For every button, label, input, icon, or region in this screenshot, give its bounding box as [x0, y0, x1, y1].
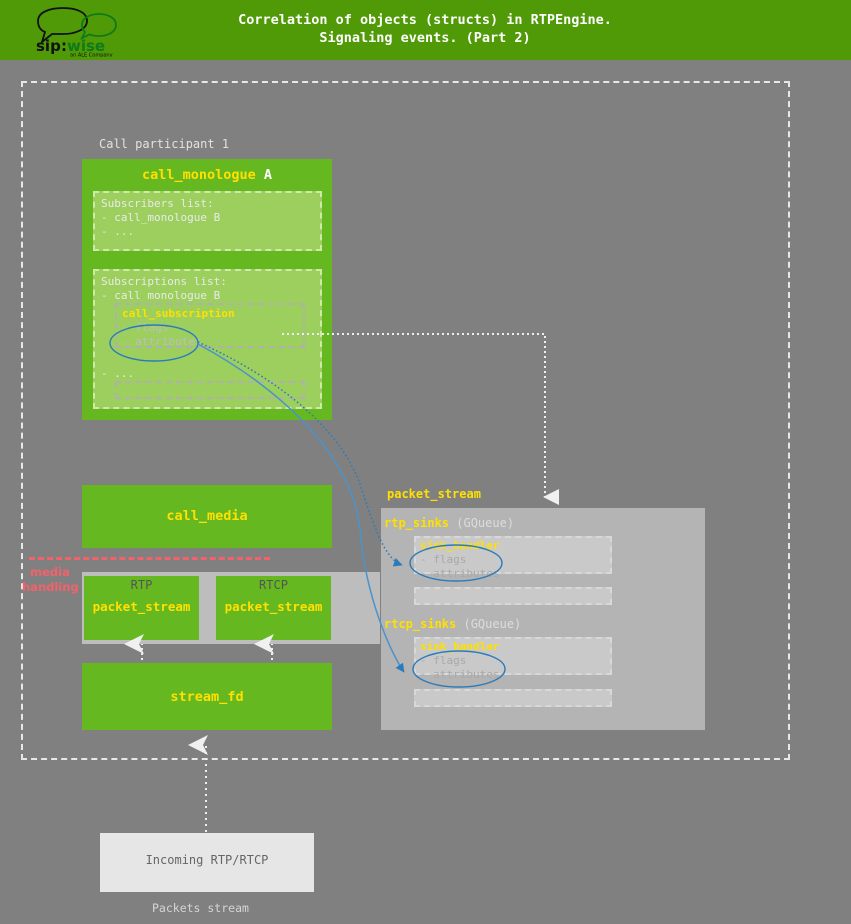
rtcp-sink-flags: - flags — [420, 654, 466, 667]
packet-stream-panel: rtp_sinks (GQueue) sink_handler - flags … — [381, 508, 705, 730]
rtcp-struct-label: packet_stream — [216, 599, 331, 614]
rtp-sinks-title: rtp_sinks (GQueue) — [384, 516, 514, 530]
rtp-sink-handler-title: sink_handler — [420, 539, 499, 552]
subscribers-heading: Subscribers list: — [101, 197, 214, 210]
packet-stream-label: packet_stream — [387, 487, 481, 501]
rtp-sink-attributes: - attributes — [420, 567, 499, 580]
monologue-struct-name: call_monologue — [142, 167, 256, 183]
call-media-box: call_media — [82, 485, 332, 548]
packets-stream-label: Packets stream — [152, 901, 249, 915]
svg-text:sip: sip — [36, 37, 61, 55]
rtp-sink-handler-fields: - flags - attributes — [420, 553, 499, 581]
title-line-2: Signaling events. (Part 2) — [319, 30, 530, 46]
rtcp-sink-handler-title: sink_handler — [420, 640, 499, 653]
diagram-canvas: sip : wise an ALE Company Correlation of… — [0, 0, 851, 924]
rtp-sink-handler-empty-box — [414, 587, 612, 605]
subscriptions-ellipsis: - ... — [101, 367, 134, 381]
media-handling-label: mediahandling — [22, 565, 78, 595]
call-media-label: call_media — [82, 508, 332, 524]
monologue-suffix: A — [256, 167, 272, 183]
incoming-rtp-rtcp-label: Incoming RTP/RTCP — [100, 853, 314, 867]
rtp-sinks-name: rtp_sinks — [384, 516, 449, 530]
media-handling-divider — [29, 557, 270, 560]
incoming-rtp-rtcp-box: Incoming RTP/RTCP — [100, 833, 314, 892]
subscriptions-item-0: - call monologue B — [101, 289, 220, 302]
call-subscription-field-attributes: - attributes — [122, 335, 201, 348]
stream-fd-label: stream_fd — [82, 689, 332, 705]
subscriptions-heading: Subscriptions list: — [101, 275, 227, 288]
rtp-sink-handler-box: sink_handler - flags - attributes — [414, 536, 612, 574]
subscribers-item-1: - ... — [101, 225, 134, 238]
subscribers-list-text: Subscribers list: - call_monologue B - .… — [101, 197, 220, 239]
rtcp-packet-stream-box: RTCP packet_stream — [216, 576, 331, 640]
stream-fd-box: stream_fd — [82, 663, 332, 730]
rtcp-sink-handler-box: sink_handler - flags - attributes — [414, 637, 612, 675]
rtp-sinks-type: (GQueue) — [449, 516, 514, 530]
rtp-sink-flags: - flags — [420, 553, 466, 566]
subscriptions-list-text: Subscriptions list: - call monologue B — [101, 275, 227, 303]
rtp-packet-stream-box: RTP packet_stream — [84, 576, 199, 640]
rtcp-sinks-name: rtcp_sinks — [384, 617, 456, 631]
logo-tagline: an ALE Company — [70, 53, 113, 58]
rtp-kind-label: RTP — [84, 578, 199, 592]
subscribers-list-box: Subscribers list: - call_monologue B - .… — [93, 191, 322, 251]
rtcp-sink-handler-empty-box — [414, 689, 612, 707]
rtcp-sinks-type: (GQueue) — [456, 617, 521, 631]
media-handling-line-1: media — [30, 565, 70, 579]
title-line-1: Correlation of objects (structs) in RTPE… — [238, 12, 612, 28]
call-monologue-a-box: call_monologue A Subscribers list: - cal… — [82, 159, 332, 420]
sipwise-logo: sip : wise an ALE Company — [30, 3, 130, 57]
page-title: Correlation of objects (structs) in RTPE… — [140, 11, 710, 47]
rtcp-kind-label: RTCP — [216, 578, 331, 592]
subscribers-item-0: - call_monologue B — [101, 211, 220, 224]
call-subscription-field-flags: - flags — [122, 321, 168, 334]
rtcp-sink-handler-fields: - flags - attributes — [420, 654, 499, 682]
rtcp-sink-attributes: - attributes — [420, 668, 499, 681]
media-handling-line-2: handling — [22, 580, 79, 594]
page-header: sip : wise an ALE Company Correlation of… — [0, 0, 851, 60]
call-subscription-box: call_subscription - flags - attributes — [115, 303, 305, 348]
rtp-struct-label: packet_stream — [84, 599, 199, 614]
subscriptions-list-box: Subscriptions list: - call monologue B c… — [93, 269, 322, 409]
empty-subscription-box — [115, 381, 305, 399]
call-subscription-title: call_subscription — [122, 307, 235, 320]
call-participant-label: Call participant 1 — [99, 137, 229, 151]
call-monologue-a-title: call_monologue A — [82, 167, 332, 183]
rtcp-sinks-title: rtcp_sinks (GQueue) — [384, 617, 521, 631]
call-subscription-fields: - flags - attributes — [122, 321, 201, 349]
